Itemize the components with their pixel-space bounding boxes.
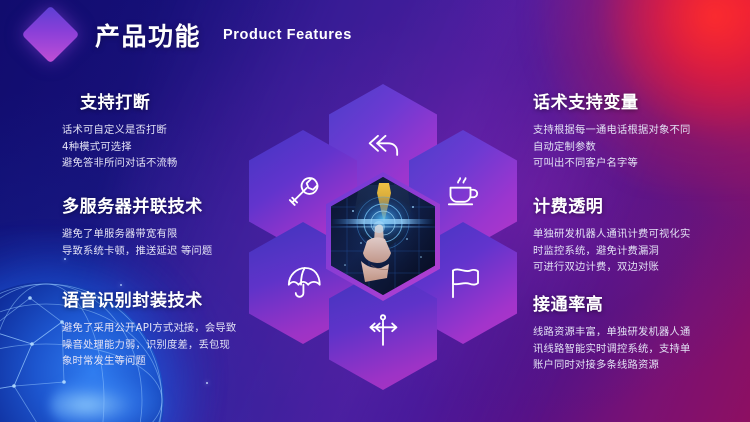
page-title: 产品功能 <box>95 17 201 53</box>
feature-block-right-1: 话术支持变量 支持根据每一通电话根据对象不同 自动定制参数 可叫出不同客户名字等 <box>533 88 750 172</box>
feature-title: 话术支持变量 <box>533 88 750 113</box>
slide-canvas: 产品功能 Product Features 支持打断 话术可自定义是否打断 4种… <box>0 0 750 422</box>
coffee-cup-icon <box>443 171 483 211</box>
hexagon-cluster <box>243 88 523 368</box>
umbrella-icon <box>283 263 323 303</box>
feature-block-right-2: 计费透明 单独研发机器人通讯计费可视化实 时监控系统，避免计费漏洞 可进行双边计… <box>533 192 750 276</box>
feature-desc: 单独研发机器人通讯计费可视化实 时监控系统，避免计费漏洞 可进行双边计费，双边对… <box>533 226 750 276</box>
reply-arrow-icon <box>363 125 403 165</box>
page-title-row: 产品功能 Product Features <box>30 14 352 55</box>
wrench-icon <box>283 171 323 211</box>
feature-desc: 支持根据每一通电话根据对象不同 自动定制参数 可叫出不同客户名字等 <box>533 122 750 172</box>
signpost-arrow-icon <box>363 309 403 349</box>
page-subtitle: Product Features <box>223 27 352 43</box>
flag-icon <box>443 263 483 303</box>
feature-title: 计费透明 <box>533 192 750 217</box>
diamond-logo-icon <box>22 6 80 64</box>
feature-block-right-3: 接通率高 线路资源丰富，单独研发机器人通 讯线路智能实时调控系统，支持单 账户同… <box>533 290 750 374</box>
feature-desc: 线路资源丰富，单独研发机器人通 讯线路智能实时调控系统，支持单 账户同时对接多条… <box>533 324 750 374</box>
feature-title: 接通率高 <box>533 290 750 315</box>
